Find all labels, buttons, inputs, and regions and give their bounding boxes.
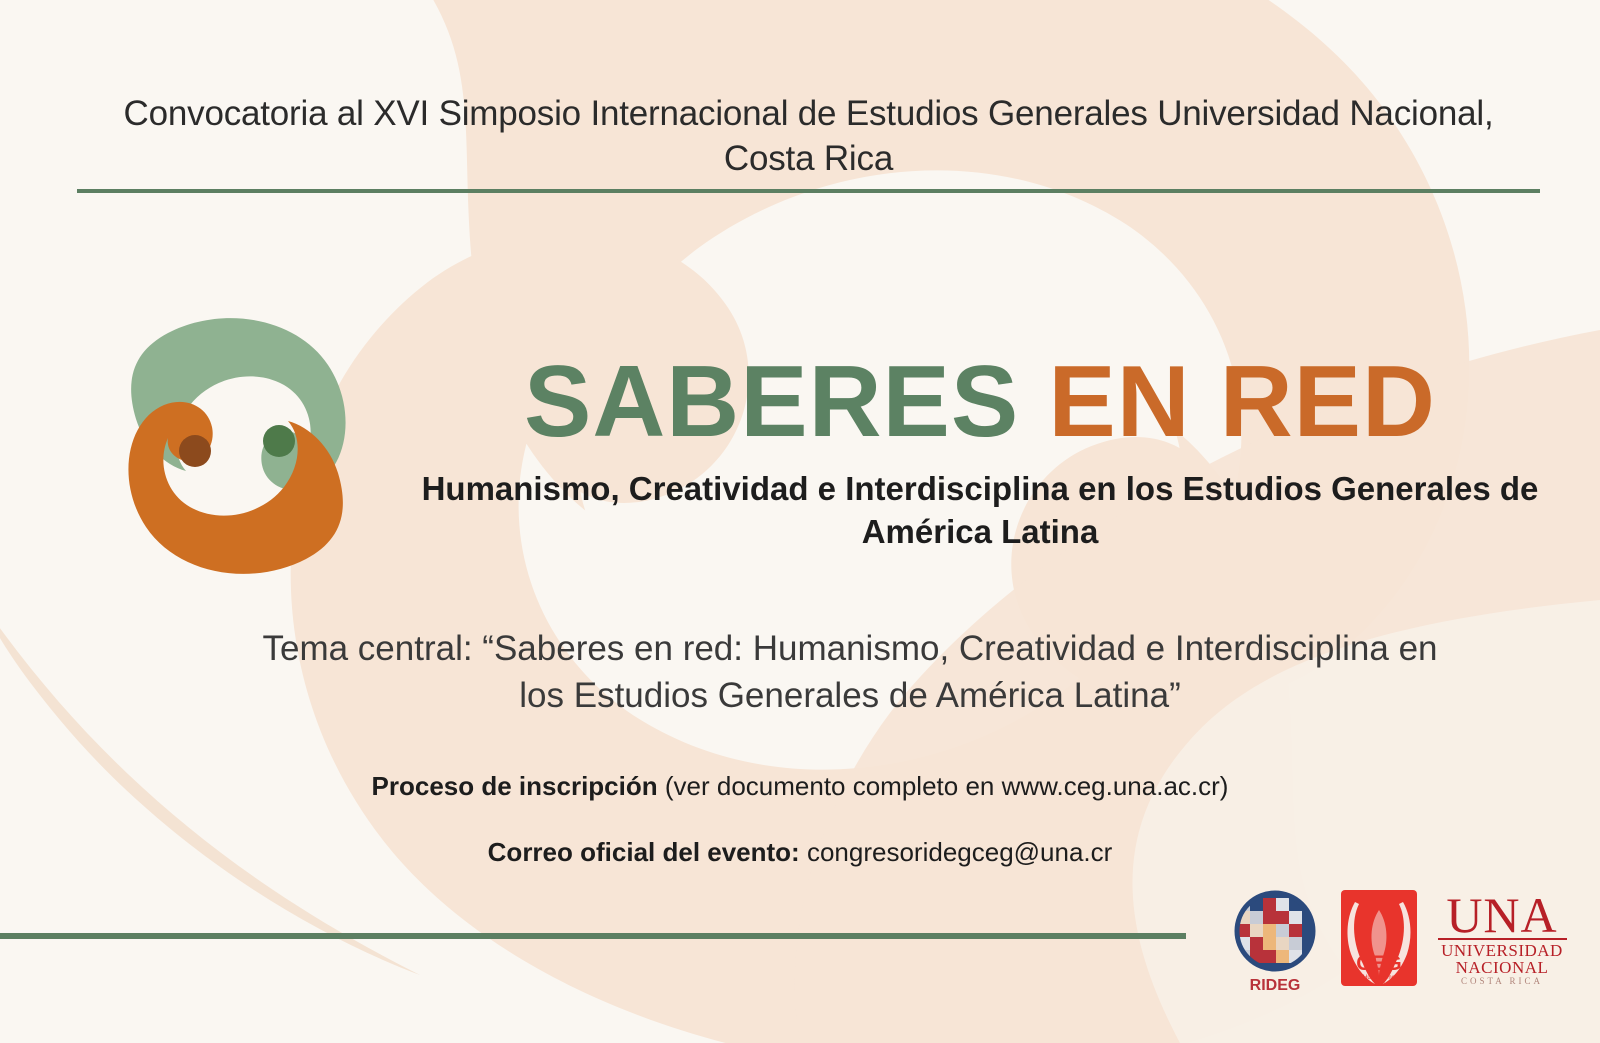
wordmark-saberes: SABERES — [524, 346, 1019, 458]
brand-tagline: Humanismo, Creatividad e Interdisciplina… — [420, 468, 1540, 554]
una-line2: NACIONAL — [1456, 958, 1549, 977]
saberes-en-red-logo-icon — [72, 281, 402, 611]
bottom-divider — [0, 933, 1186, 939]
registration-detail[interactable]: (ver documento completo en www.ceg.una.a… — [665, 771, 1229, 801]
email-info: Correo oficial del evento: congresorideg… — [0, 837, 1600, 868]
rideg-logo-icon: RIDEG — [1225, 886, 1325, 996]
page-title: Convocatoria al XVI Simposio Internacion… — [77, 92, 1540, 182]
ceg-caption: CEG — [1356, 952, 1402, 975]
svg-text:en acción: en acción — [1366, 982, 1392, 988]
una-logo-icon: UNA UNIVERSIDAD NACIONAL COSTA RICA — [1430, 886, 1575, 986]
una-caption: UNA — [1446, 887, 1557, 943]
ceg-sub-caption: Humanismo — [1363, 975, 1396, 981]
top-divider — [77, 189, 1540, 193]
registration-info: Proceso de inscripción (ver documento co… — [0, 771, 1600, 802]
registration-label: Proceso de inscripción — [372, 771, 658, 801]
wordmark-en-red: EN RED — [1048, 346, 1436, 458]
brand-wordmark: SABERES EN RED — [420, 352, 1540, 453]
rideg-caption: RIDEG — [1250, 977, 1301, 994]
poster-canvas: Convocatoria al XVI Simposio Internacion… — [0, 0, 1600, 1043]
partner-logos: RIDEG CEG Humanismo en acción UNA UNIVER… — [1225, 886, 1575, 996]
ceg-logo-icon: CEG Humanismo en acción — [1337, 886, 1421, 990]
email-label: Correo oficial del evento: — [488, 837, 800, 867]
central-theme-text: Tema central: “Saberes en red: Humanismo… — [250, 626, 1450, 719]
una-line3: COSTA RICA — [1461, 976, 1543, 986]
email-value[interactable]: congresoridegceg@una.cr — [807, 837, 1112, 867]
